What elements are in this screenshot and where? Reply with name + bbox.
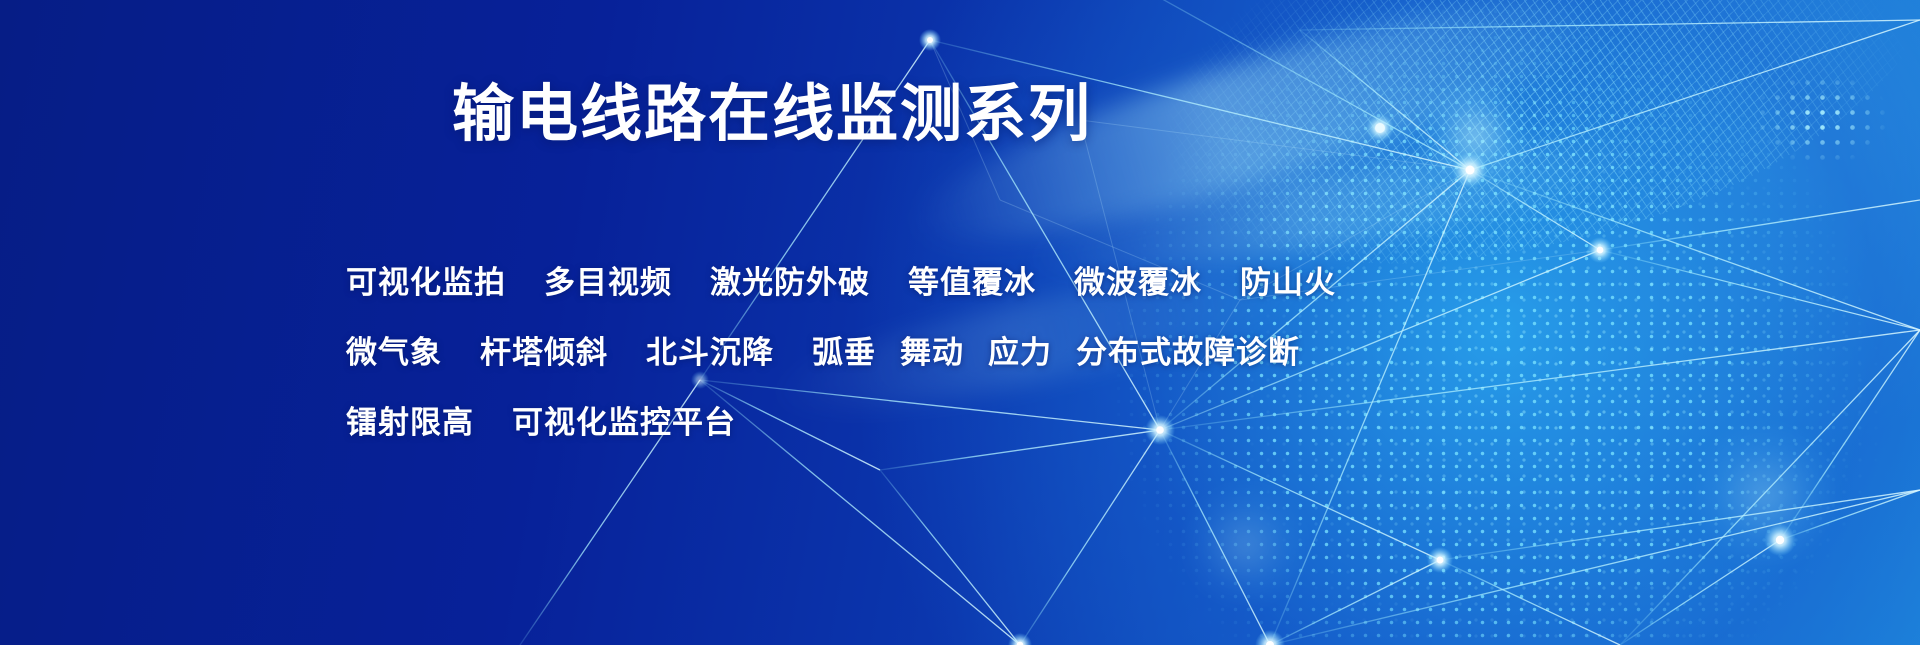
feature-tag[interactable]: 可视化监拍 (346, 257, 506, 302)
feature-tag[interactable]: 可视化监控平台 (512, 397, 736, 442)
page-title: 输电线路在线监测系列 (452, 84, 1092, 146)
feature-tag[interactable]: 杆塔倾斜 (480, 327, 608, 372)
feature-tag-row: 可视化监拍 多目视频 激光防外破 等值覆冰 微波覆冰 防山火 (346, 244, 1346, 314)
feature-tag[interactable]: 微气象 (346, 327, 442, 372)
feature-tag-list: 可视化监拍 多目视频 激光防外破 等值覆冰 微波覆冰 防山火 微气象 杆塔倾斜 … (346, 244, 1346, 454)
feature-tag-row: 镭射限高 可视化监控平台 (346, 384, 1346, 454)
banner-content: 输电线路在线监测系列 可视化监拍 多目视频 激光防外破 等值覆冰 微波覆冰 防山… (0, 0, 1920, 645)
feature-tag[interactable]: 微波覆冰 (1074, 257, 1202, 302)
feature-tag[interactable]: 等值覆冰 (908, 257, 1036, 302)
feature-tag[interactable]: 北斗沉降 (646, 327, 774, 372)
feature-tag[interactable]: 激光防外破 (710, 257, 870, 302)
feature-tag[interactable]: 舞动 (900, 327, 964, 372)
feature-tag[interactable]: 弧垂 (812, 327, 876, 372)
feature-tag[interactable]: 防山火 (1240, 257, 1336, 302)
hero-banner: 输电线路在线监测系列 可视化监拍 多目视频 激光防外破 等值覆冰 微波覆冰 防山… (0, 0, 1920, 645)
feature-tag-row: 微气象 杆塔倾斜 北斗沉降 弧垂 舞动 应力 分布式故障诊断 (346, 314, 1346, 384)
feature-tag[interactable]: 镭射限高 (346, 397, 474, 442)
feature-tag[interactable]: 多目视频 (544, 257, 672, 302)
feature-tag[interactable]: 应力 (988, 327, 1052, 372)
feature-tag[interactable]: 分布式故障诊断 (1076, 327, 1300, 372)
